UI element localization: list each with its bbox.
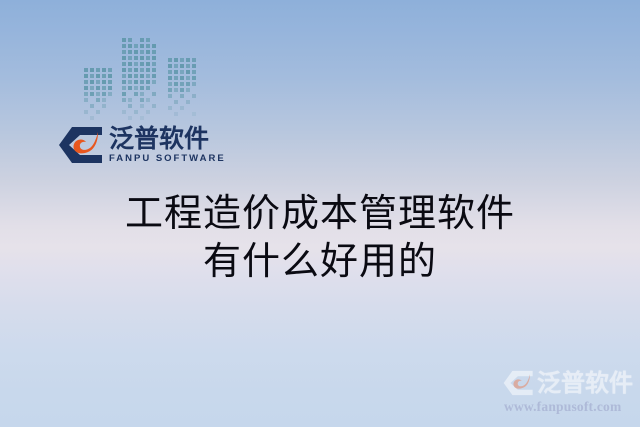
page-title: 工程造价成本管理软件 有什么好用的 bbox=[0, 190, 640, 286]
brand-name-cn: 泛普软件 bbox=[109, 126, 226, 152]
fanpu-hexagon-logo-icon bbox=[503, 370, 534, 396]
brand-logo: 泛普软件 FANPU SOFTWARE bbox=[58, 123, 226, 167]
page-title-line-1: 工程造价成本管理软件 bbox=[0, 190, 640, 238]
fanpu-hexagon-logo-icon bbox=[58, 126, 104, 164]
watermark-url: www.fanpusoft.com bbox=[503, 399, 640, 414]
brand-name-en: FANPU SOFTWARE bbox=[109, 153, 226, 164]
watermark-brand-name: 泛普软件 bbox=[537, 370, 633, 396]
pixel-buildings-icon bbox=[82, 36, 202, 124]
promo-banner: 泛普软件 FANPU SOFTWARE 工程造价成本管理软件 有什么好用的 泛普… bbox=[0, 0, 640, 427]
watermark-logo-row: 泛普软件 bbox=[503, 368, 640, 398]
page-title-line-2: 有什么好用的 bbox=[0, 238, 640, 286]
brand-logo-text: 泛普软件 FANPU SOFTWARE bbox=[109, 126, 226, 164]
watermark: 泛普软件 www.fanpusoft.com bbox=[503, 368, 640, 416]
